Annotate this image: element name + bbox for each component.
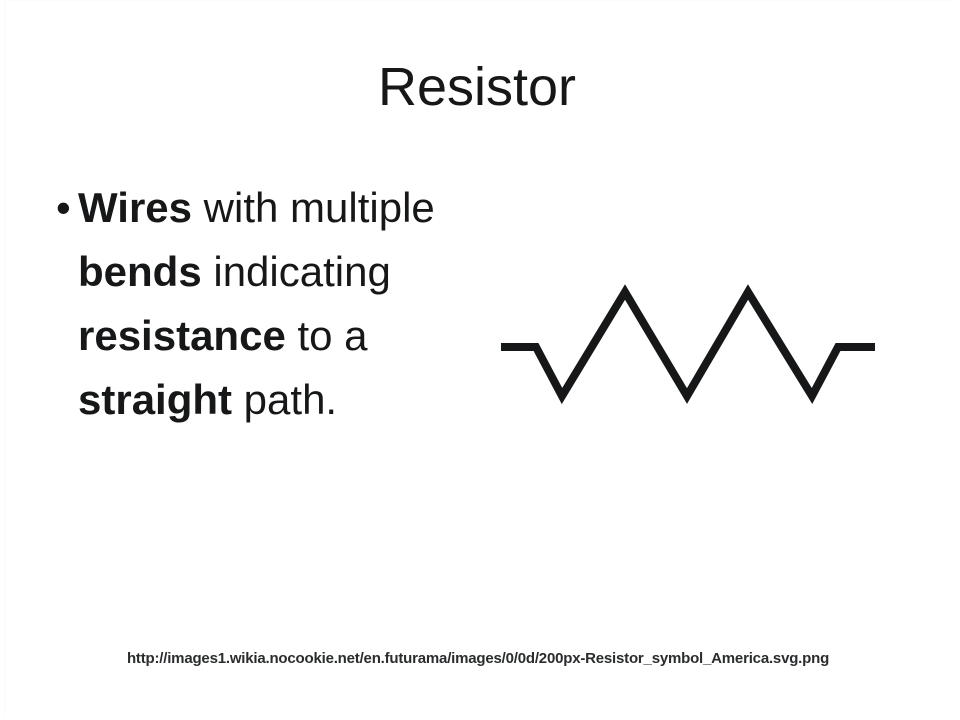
bullet-plain-1: with multiple — [192, 184, 435, 231]
slide-title-text: Resistor — [378, 58, 576, 117]
image-source-url: http://images1.wikia.nocookie.net/en.fut… — [127, 650, 829, 667]
slide-title: Resistor — [0, 58, 960, 117]
slide-canvas: Resistor • Wires with multiple bends ind… — [0, 0, 960, 720]
bullet-plain-3: to a — [286, 312, 368, 359]
bullet-emphasis-resistance: resistance — [78, 312, 286, 359]
resistor-symbol-icon — [486, 272, 890, 408]
bullet-point-icon: • — [48, 176, 78, 240]
list-item: • Wires with multiple bends indicating r… — [48, 176, 468, 432]
bullet-emphasis-straight: straight — [78, 376, 232, 423]
bullet-emphasis-bends: bends — [78, 248, 202, 295]
bullet-emphasis-wires: Wires — [78, 184, 192, 231]
resistor-symbol-image — [486, 272, 890, 408]
bullet-plain-2: indicating — [202, 248, 391, 295]
bullet-plain-4: path. — [232, 376, 337, 423]
bullet-item-text: Wires with multiple bends indicating res… — [78, 176, 468, 432]
bullet-list: • Wires with multiple bends indicating r… — [48, 176, 468, 432]
resistor-zigzag-path — [501, 292, 875, 396]
image-source-caption: http://images1.wikia.nocookie.net/en.fut… — [0, 650, 960, 667]
